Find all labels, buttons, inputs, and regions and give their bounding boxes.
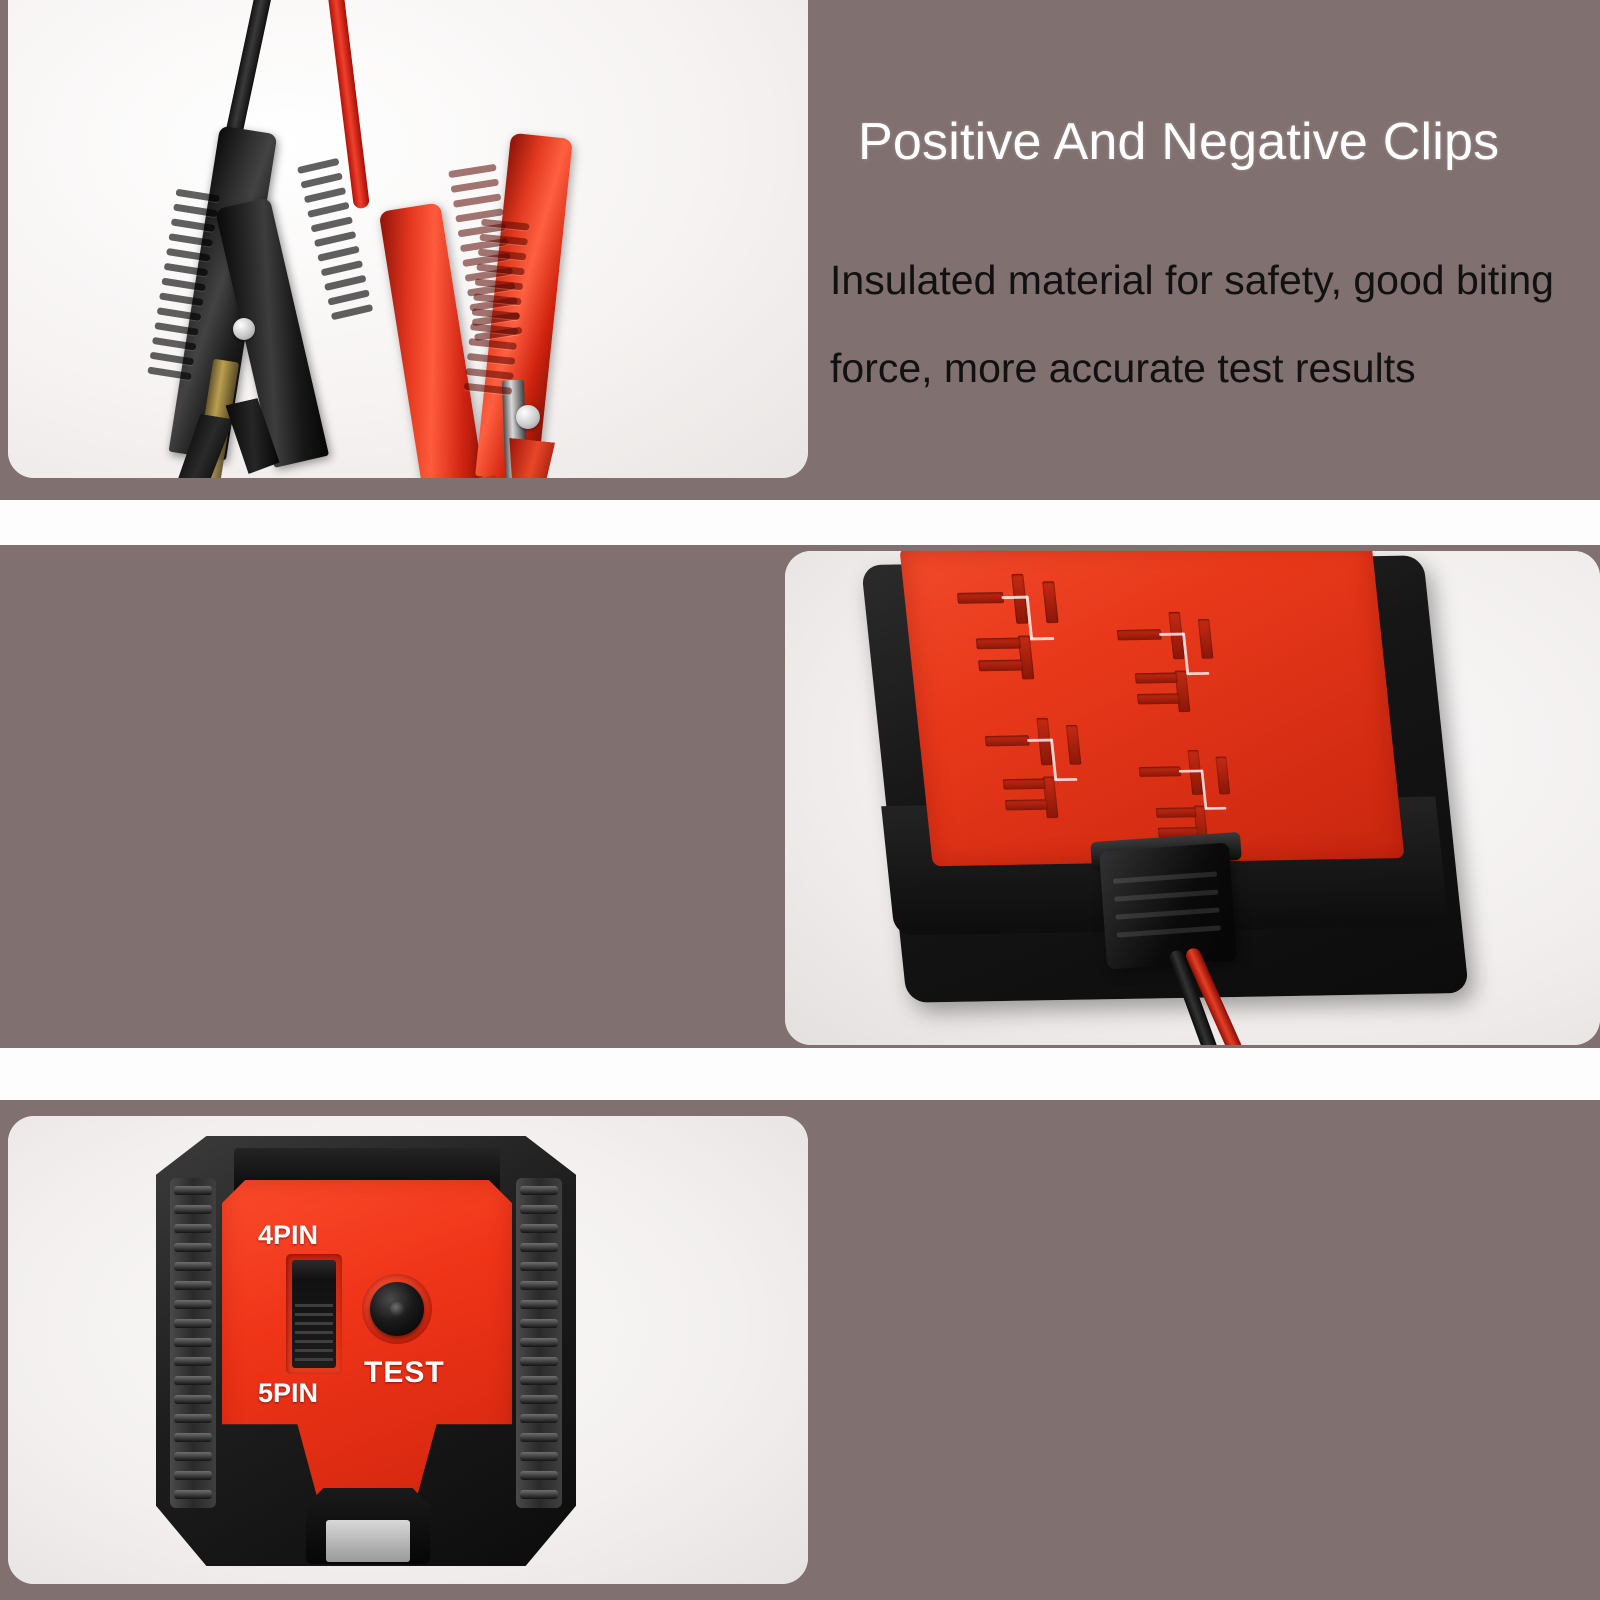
test-button-center-dot	[390, 1302, 404, 1316]
relay-socket-guide-line	[1027, 739, 1052, 742]
switch-knurl-line	[295, 1313, 333, 1316]
connector-photo	[785, 551, 1600, 1045]
device-grip-rib	[174, 1414, 212, 1423]
panel-divider-1	[0, 500, 1600, 545]
red-clip-rivet	[516, 405, 540, 429]
device-grip-rib	[174, 1452, 212, 1461]
switch-knurl-line	[295, 1331, 333, 1334]
device-grip-rib	[174, 1281, 212, 1290]
device-grip-rib	[520, 1243, 558, 1252]
device-grip-rib	[174, 1357, 212, 1366]
device-grip-rib	[520, 1205, 558, 1214]
grip-rib	[307, 202, 349, 218]
panel-positive-negative-clips: Positive And Negative Clips Insulated ma…	[0, 0, 1600, 500]
grip-rib	[311, 216, 353, 232]
relay-socket-slot	[978, 660, 1023, 672]
relay-socket-slot	[976, 638, 1021, 650]
device-grip-right	[516, 1178, 562, 1508]
grip-rib	[448, 164, 497, 178]
device-grip-rib	[174, 1243, 212, 1252]
relay-socket-slot	[1005, 799, 1048, 810]
switch-knurl-line	[295, 1322, 333, 1325]
plug-rib	[1117, 925, 1221, 937]
relay-socket-slot	[1137, 693, 1180, 704]
switch-knurl-line	[295, 1349, 333, 1352]
device-grip-left	[170, 1178, 216, 1508]
grip-rib	[317, 246, 359, 262]
relay-socket-guide-line	[1179, 770, 1203, 773]
device-grip-rib	[520, 1319, 558, 1328]
relay-socket-slot	[1139, 766, 1182, 777]
device-grip-rib	[174, 1205, 212, 1214]
device-grip-rib	[520, 1338, 558, 1347]
plug-rib	[1115, 907, 1219, 919]
device-front-illustration: 4PIN 5PIN TEST	[156, 1136, 576, 1584]
device-grip-rib	[174, 1319, 212, 1328]
relay-socket-guide-line	[1204, 807, 1226, 810]
relay-socket-slot	[1135, 673, 1178, 684]
grip-rib	[327, 289, 369, 305]
infographic-page: Positive And Negative Clips Insulated ma…	[0, 0, 1600, 1600]
device-grip-rib	[174, 1376, 212, 1385]
plug-rib	[1113, 872, 1217, 884]
switch-knurl-line	[295, 1304, 333, 1307]
buttons-photo: 4PIN 5PIN TEST	[8, 1116, 808, 1584]
grip-rib	[324, 275, 366, 291]
device-grip-rib	[520, 1471, 558, 1480]
clips-heading: Positive And Negative Clips	[858, 115, 1550, 170]
device-grip-rib	[174, 1433, 212, 1442]
plug-rib	[1114, 889, 1218, 901]
connector-plug	[1099, 843, 1237, 970]
clips-text-block: Positive And Negative Clips Insulated ma…	[830, 115, 1550, 389]
panel-divider-2	[0, 1048, 1600, 1100]
grip-rib	[300, 172, 342, 188]
device-bottom-port-inner	[326, 1520, 410, 1562]
clips-photo	[8, 0, 808, 478]
black-clip-rivet	[233, 318, 255, 340]
device-grip-rib	[520, 1452, 558, 1461]
device-grip-rib	[174, 1395, 212, 1404]
grip-rib	[331, 304, 373, 320]
device-grip-rib	[174, 1224, 212, 1233]
relay-socket-guide-line	[1054, 778, 1077, 781]
device-grip-rib	[520, 1490, 558, 1499]
relay-socket-slot	[1117, 629, 1162, 640]
device-grip-rib	[520, 1357, 558, 1366]
device-grip-rib	[520, 1376, 558, 1385]
device-grip-rib	[174, 1300, 212, 1309]
relay-socket-slot	[1003, 779, 1046, 790]
grip-rib	[451, 179, 500, 193]
pin-slide-switch[interactable]	[292, 1260, 336, 1368]
switch-knurl-line	[295, 1358, 333, 1361]
relay-socket-slot	[985, 735, 1030, 746]
device-grip-rib	[520, 1281, 558, 1290]
grip-rib	[304, 187, 346, 203]
device-grip-rib	[520, 1395, 558, 1404]
device-grip-rib	[174, 1338, 212, 1347]
relay-socket-slot	[1156, 807, 1197, 818]
grip-rib	[321, 260, 363, 276]
device-grip-rib	[520, 1300, 558, 1309]
relay-socket-slot	[957, 592, 1004, 604]
relay-socket-guide-line	[1030, 637, 1054, 640]
label-5pin: 5PIN	[258, 1378, 318, 1409]
clips-illustration	[8, 0, 808, 478]
relay-socket-guide-line	[1001, 596, 1027, 599]
device-grip-rib	[174, 1186, 212, 1195]
relay-socket-guide-line	[1159, 633, 1184, 636]
panel-connector: Connector Seamless butt joint, more soli…	[0, 545, 1600, 1048]
device-grip-rib	[520, 1224, 558, 1233]
label-4pin: 4PIN	[258, 1220, 318, 1251]
grip-rib	[453, 193, 502, 207]
device-grip-rib	[520, 1262, 558, 1271]
device-grip-rib	[174, 1490, 212, 1499]
grip-rib	[314, 231, 356, 247]
connector-illustration	[785, 551, 1600, 1045]
grip-rib	[297, 158, 339, 174]
clips-body-line-2: force, more accurate test results	[830, 348, 1550, 389]
panel-buttons: 4PIN 5PIN TEST Buttons 4PIN/5PIN inter-s…	[0, 1100, 1600, 1600]
device-grip-rib	[520, 1433, 558, 1442]
device-grip-rib	[174, 1262, 212, 1271]
device-grip-rib	[520, 1186, 558, 1195]
label-test: TEST	[364, 1356, 445, 1390]
switch-knurl-line	[295, 1340, 333, 1343]
device-grip-rib	[174, 1471, 212, 1480]
device-grip-rib	[520, 1414, 558, 1423]
clips-body-line-1: Insulated material for safety, good biti…	[830, 260, 1550, 301]
relay-socket-guide-line	[1186, 672, 1209, 675]
